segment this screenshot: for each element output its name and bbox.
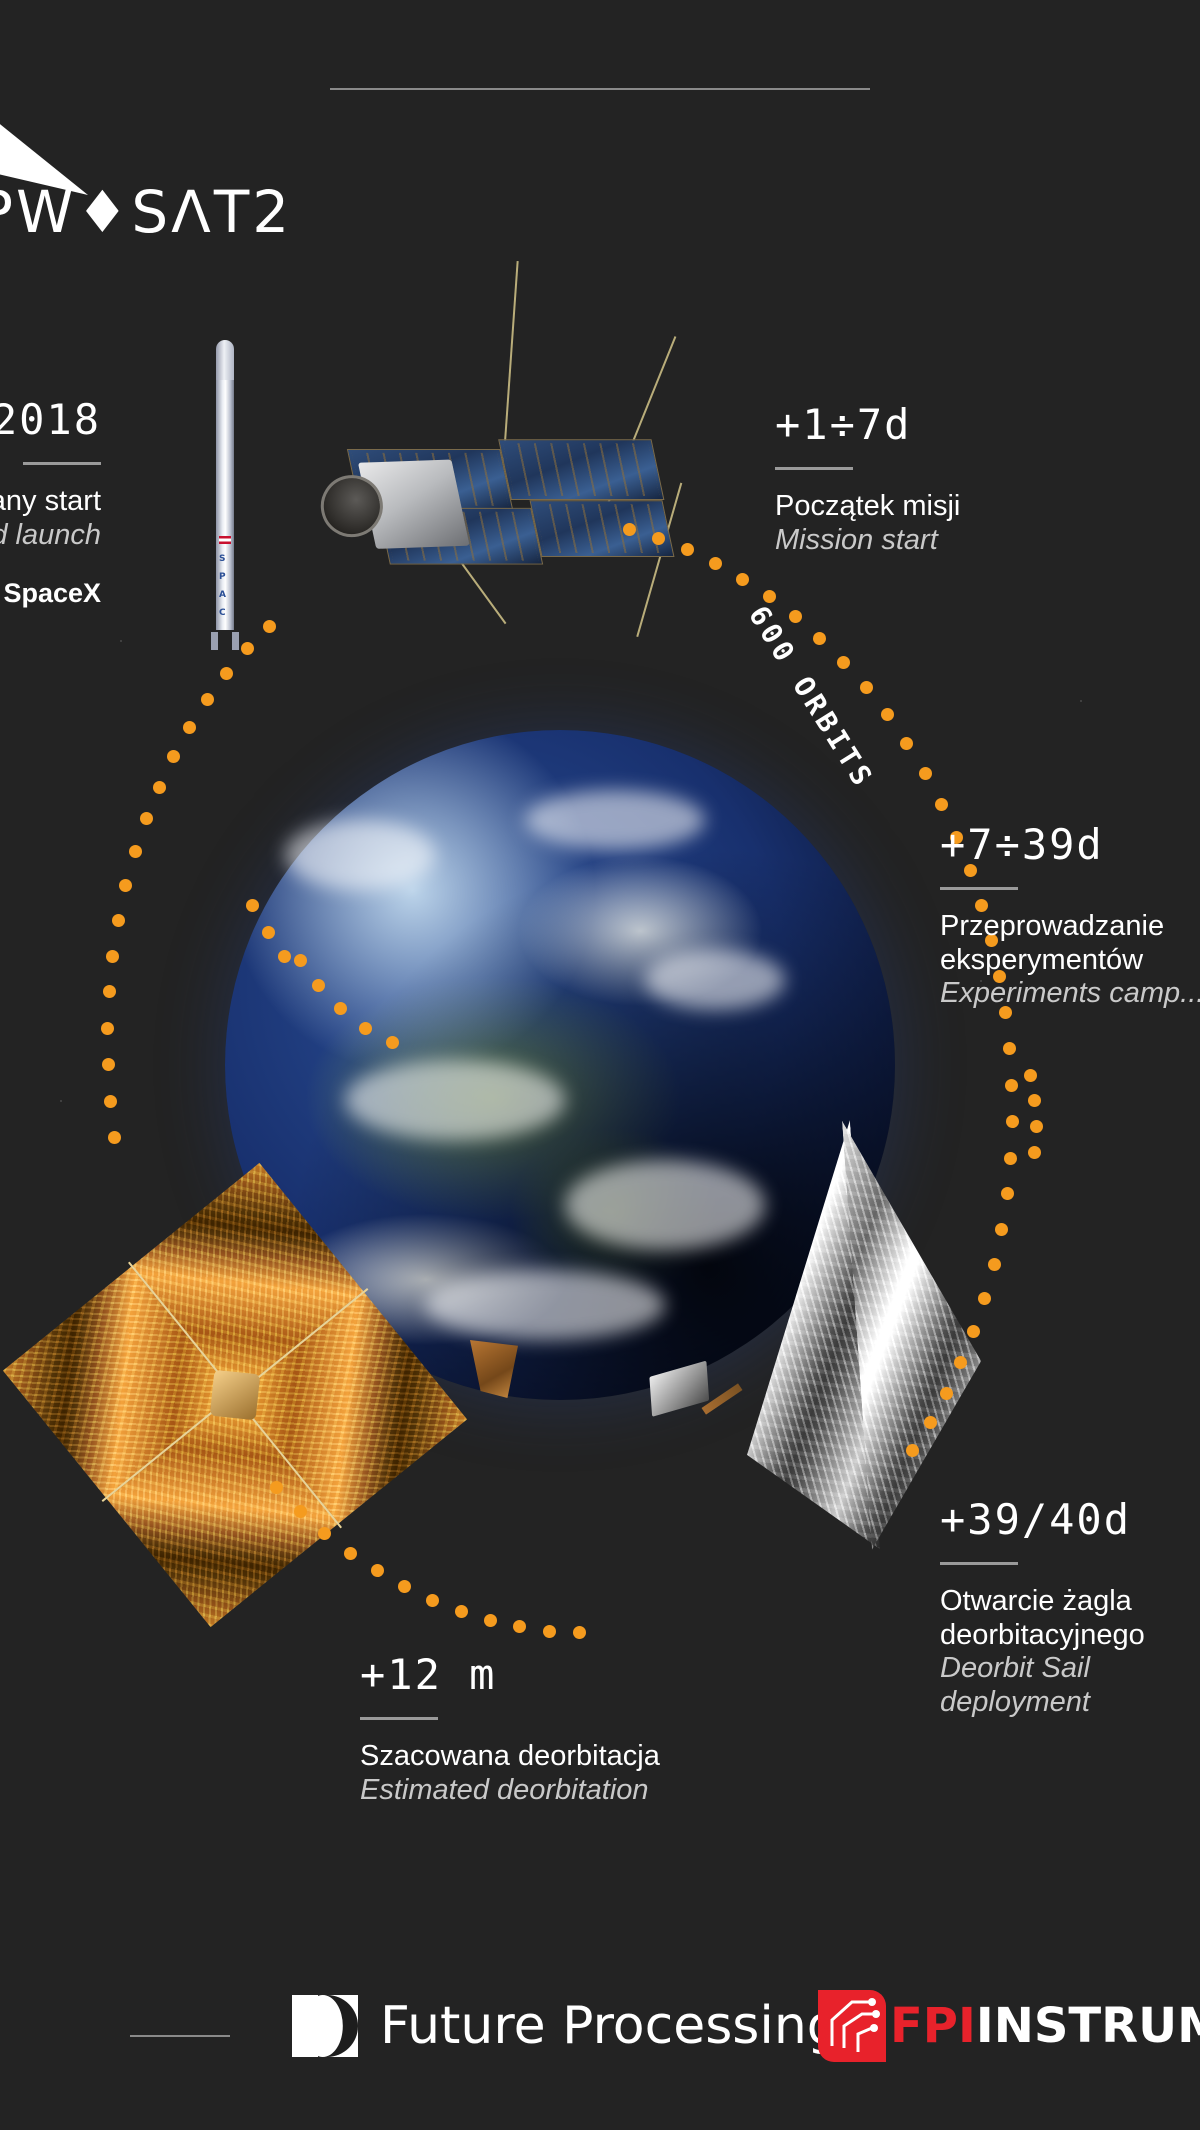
fpi-name-red: FPI [890,1998,976,2054]
milestone-label-en: Mission start [775,524,960,558]
rocket-fin [232,632,239,650]
orbit-dot [334,1002,347,1015]
orbit-count-annotation: 600 ORBITS [742,600,881,794]
logo-wordmark: PW♦SΛT2 [0,178,292,246]
milestone-deorbit-sail: +39/40d Otwarcie żagla deorbitacyjnego D… [940,1495,1145,1720]
orbit-dot [318,1527,331,1540]
orbit-dot [837,656,850,669]
milestone-label-pl-line1: Otwarcie żagla [940,1585,1145,1619]
orbit-dot [426,1594,439,1607]
orbit-dot [860,681,873,694]
orbit-dot [167,750,180,763]
orbit-dot [967,1325,980,1338]
orbit-dot [106,950,119,963]
orbit-dot [1003,1042,1016,1055]
milestone-label-en: ...duled launch [0,519,101,553]
orbit-dot [1028,1146,1041,1159]
star-speck [120,640,122,642]
orbit-dot [112,914,125,927]
rocket-letter: P [219,572,226,582]
orbit-dot [924,1416,937,1429]
future-processing-mark-icon [292,1995,358,2057]
orbit-dot [906,1444,919,1457]
rocket-letter: A [219,590,226,600]
orbit-dot [1005,1079,1018,1092]
milestone-label-en: Experiments camp... [940,977,1200,1011]
usa-flag-icon [219,536,231,544]
orbit-dot [359,1022,372,1035]
orbit-dot [484,1614,497,1627]
orbit-dot [789,610,802,623]
orbit-dot [978,1292,991,1305]
milestone-label-pl: Początek misji [775,490,960,524]
orbit-dot [919,767,932,780]
orbit-dot [736,573,749,586]
cloud [285,820,435,890]
orbit-dot [102,1058,115,1071]
orbit-dot [108,1131,121,1144]
orbit-dot [119,879,132,892]
orbit-dot [543,1625,556,1638]
orbit-dot [1028,1094,1041,1107]
orbit-dot [294,1505,307,1518]
circuit-trace-icon [818,1990,886,2062]
milestone-label-en-line1: Deorbit Sail [940,1652,1145,1686]
orbit-dot [140,812,153,825]
orbit-dot [940,1387,953,1400]
orbit-dot [241,642,254,655]
orbit-dot [262,926,275,939]
cloud [345,1060,565,1140]
antenna [503,261,519,461]
orbit-dot [995,1223,1008,1236]
milestone-divider [775,467,853,470]
milestone-mission-start: +1÷7d Początek misji Mission start [775,400,960,557]
orbit-dot [513,1620,526,1633]
orbit-dot [344,1547,357,1560]
orbit-dot [1006,1115,1019,1128]
orbit-dot [681,543,694,556]
future-processing-name: Future Processing [380,1996,840,2056]
cloud [425,1270,665,1340]
orbit-dot [201,693,214,706]
orbit-dot [278,950,291,963]
milestone-time: +1÷7d [775,400,960,449]
fpi-instruments-name: FPIINSTRUMEN [890,1998,1200,2054]
orbit-dot [398,1580,411,1593]
orbit-dot [183,721,196,734]
orbit-dot [988,1258,1001,1271]
milestone-label-pl-line2: deorbitacyjnego [940,1619,1145,1653]
orbit-dot [246,899,259,912]
orbit-dot [935,798,948,811]
orbit-dot [103,985,116,998]
orbit-dot [220,667,233,680]
milestone-time: Q4 2018 [0,395,101,444]
footer-divider [130,2035,230,2037]
orbit-dot [881,708,894,721]
milestone-divider [23,462,101,465]
milestone-time: +39/40d [940,1495,1145,1544]
star-speck [1080,700,1082,702]
orbit-dot [270,1481,283,1494]
milestone-launcher: on 9, SpaceX [0,578,101,609]
milestone-experiments: +7÷39d Przeprowadzanie eksperymentów Exp… [940,820,1200,1011]
orbit-dot [294,954,307,967]
future-processing-logo: Future Processing [292,1995,840,2057]
milestone-launch: Q4 2018 ...owany start ...duled launch o… [0,395,101,609]
cloud [645,950,785,1010]
star-speck [60,1100,62,1102]
milestone-divider [940,887,1018,890]
milestone-label-pl-line1: Przeprowadzanie [940,910,1200,944]
milestone-time: +12 m [360,1650,660,1699]
fpi-name-white: INSTRUMEN [976,1998,1200,2054]
orbit-dot [104,1095,117,1108]
cloud [525,790,705,850]
rocket-letter: C [219,608,226,618]
sail-hub [210,1370,261,1421]
orbit-dot [1030,1120,1043,1133]
solar-panel [530,500,675,557]
orbit-dot [312,979,325,992]
rocket-fin [211,632,218,650]
milestone-deorbitation: +12 m Szacowana deorbitacja Estimated de… [360,1650,660,1807]
fpi-instruments-logo: FPIINSTRUMEN [818,1990,1200,2062]
orbit-dot [813,632,826,645]
milestone-label-pl: Szacowana deorbitacja [360,1740,660,1774]
solar-panel [498,439,664,500]
milestone-divider [360,1717,438,1720]
milestone-time: +7÷39d [940,820,1200,869]
orbit-dot [900,737,913,750]
milestone-label-pl-line2: eksperymentów [940,944,1200,978]
orbit-dot [1004,1152,1017,1165]
orbit-dot [153,781,166,794]
milestone-label-en: Estimated deorbitation [360,1774,660,1808]
orbit-dot [129,845,142,858]
milestone-divider [940,1562,1018,1565]
milestone-label-en-line2: deployment [940,1686,1145,1720]
deorbit-sail-gold-image [54,1214,417,1577]
orbit-dot [263,620,276,633]
fpi-circuit-mark-icon [818,1990,886,2062]
orbit-dot [1001,1187,1014,1200]
rocket-letter: S [219,554,225,564]
orbit-dot [573,1626,586,1639]
orbit-dot [1024,1069,1037,1082]
milestone-label-pl: ...owany start [0,485,101,519]
falcon-9-rocket-image: S P A C [208,340,242,650]
top-divider [330,88,870,90]
orbit-dot [101,1022,114,1035]
infographic-canvas: PW♦SΛT2 S P A C [0,0,1200,2130]
orbit-dot [709,557,722,570]
pwsat2-cubesat-image [339,351,680,638]
orbit-dot [455,1605,468,1618]
orbit-dot [386,1036,399,1049]
